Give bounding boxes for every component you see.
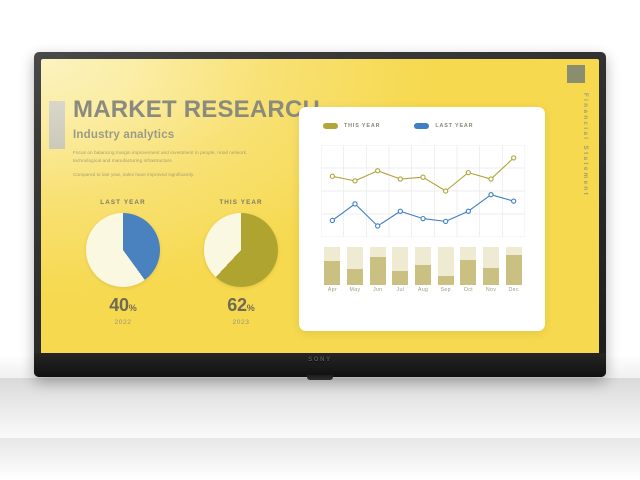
chart-legend: THIS YEAR LAST YEAR [323, 123, 473, 129]
bar-segment-filled [460, 260, 476, 285]
month-label-sep: Sep [434, 287, 457, 293]
bar-jun [370, 247, 386, 285]
month-label-apr: Apr [321, 287, 344, 293]
monitor-bottom-bezel: SONY [34, 353, 606, 377]
pie-year-last-year: 2022 [69, 319, 177, 326]
presentation-slide: MARKET RESEARCH Industry analytics Focus… [41, 59, 599, 355]
bar-sep [438, 247, 454, 285]
pie-caption-last-year: LAST YEAR [69, 199, 177, 206]
pie-percent-this-year: 62 [227, 295, 246, 315]
title-accent-block [49, 101, 65, 149]
bar-jul [392, 247, 408, 285]
month-label-nov: Nov [480, 287, 503, 293]
legend-label-this-year: THIS YEAR [344, 123, 380, 129]
pie-card-this-year: THIS YEAR 62% 2023 [187, 199, 295, 326]
bar-apr [324, 247, 340, 285]
month-axis-labels: AprMayJunJulAugSepOctNovDec [321, 287, 525, 293]
bar-segment-filled [370, 257, 386, 285]
pie-percent-last-year: 40 [109, 295, 128, 315]
bar-segment-remainder [438, 247, 454, 276]
bar-may [347, 247, 363, 285]
month-label-jul: Jul [389, 287, 412, 293]
pie-card-last-year: LAST YEAR 40% 2022 [69, 199, 177, 326]
pie-caption-this-year: THIS YEAR [187, 199, 295, 206]
bar-aug [415, 247, 431, 285]
body-paragraph-2: Compared to last year, sales have improv… [73, 171, 263, 179]
bar-segment-remainder [415, 247, 431, 265]
pie-percent-symbol-this-year: % [247, 303, 255, 313]
legend-item-this-year: THIS YEAR [323, 123, 380, 129]
bar-segment-filled [347, 269, 363, 285]
line-chart [321, 145, 525, 237]
body-paragraph-1: Focus on balancing margin improvement an… [73, 149, 263, 165]
pie-value-row-this-year: 62% [187, 296, 295, 315]
bar-segment-filled [506, 255, 522, 285]
bar-segment-remainder [347, 247, 363, 269]
bar-segment-remainder [370, 247, 386, 257]
desk-surface [0, 378, 640, 438]
side-vertical-label: Financial Statement [582, 93, 589, 197]
brand-logo: SONY [308, 357, 331, 363]
bar-segment-remainder [483, 247, 499, 268]
bar-segment-remainder [506, 247, 522, 255]
chart-card: THIS YEAR LAST YEAR AprMayJunJulAugSepOc… [299, 107, 545, 331]
ir-sensor-nub [307, 375, 333, 380]
pie-percent-symbol-last-year: % [129, 303, 137, 313]
legend-swatch-this-year [323, 123, 338, 129]
bar-nov [483, 247, 499, 285]
bar-oct [460, 247, 476, 285]
legend-item-last-year: LAST YEAR [414, 123, 473, 129]
month-label-oct: Oct [457, 287, 480, 293]
side-tab-block [567, 65, 585, 83]
pie-chart-this-year [204, 213, 278, 287]
pie-value-row-last-year: 40% [69, 296, 177, 315]
bar-chart [321, 245, 525, 285]
month-label-jun: Jun [366, 287, 389, 293]
month-label-may: May [344, 287, 367, 293]
bar-dec [506, 247, 522, 285]
bar-segment-remainder [460, 247, 476, 260]
slide-left-column: MARKET RESEARCH Industry analytics Focus… [73, 97, 301, 185]
bar-segment-filled [324, 261, 340, 285]
legend-swatch-last-year [414, 123, 429, 129]
bar-segment-filled [392, 271, 408, 285]
month-label-aug: Aug [412, 287, 435, 293]
bar-segment-remainder [392, 247, 408, 271]
bar-segment-remainder [324, 247, 340, 261]
page-title: MARKET RESEARCH [73, 97, 301, 122]
scene: MARKET RESEARCH Industry analytics Focus… [0, 0, 640, 480]
bar-segment-filled [483, 268, 499, 285]
slide-subtitle: Industry analytics [73, 129, 301, 141]
display-monitor: MARKET RESEARCH Industry analytics Focus… [34, 52, 606, 377]
pie-year-this-year: 2023 [187, 319, 295, 326]
month-label-dec: Dec [502, 287, 525, 293]
bar-segment-filled [415, 265, 431, 285]
legend-label-last-year: LAST YEAR [435, 123, 473, 129]
screen-bezel: MARKET RESEARCH Industry analytics Focus… [41, 59, 599, 355]
bar-segment-filled [438, 276, 454, 285]
pie-chart-last-year [86, 213, 160, 287]
